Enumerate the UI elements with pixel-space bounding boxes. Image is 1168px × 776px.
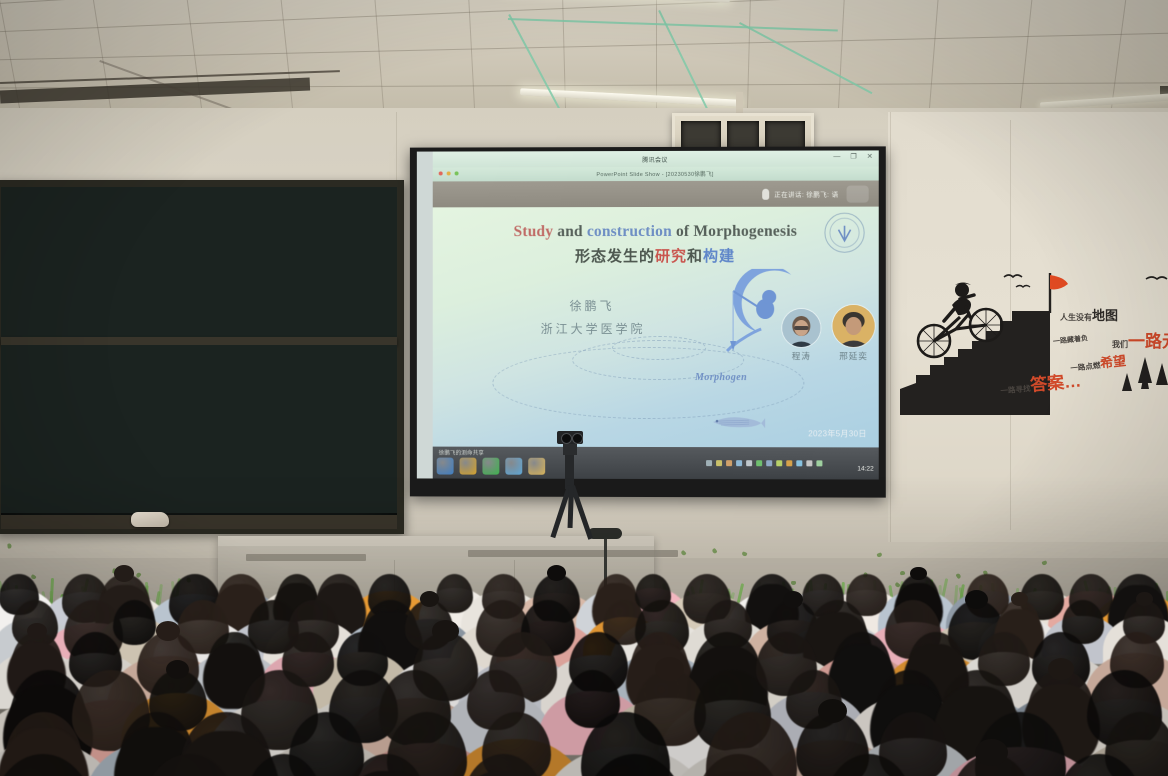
window-title-text: 腾讯会议	[642, 154, 668, 163]
coauthor-caption-2: 邢延奕	[831, 350, 875, 362]
ceiling-tile-line	[922, 0, 943, 118]
slide-title-cn: 形态发生的研究和构建	[433, 245, 879, 266]
butterfly-icon	[900, 571, 906, 576]
camera-head	[563, 444, 577, 455]
slide-date: 2023年5月30日	[808, 428, 866, 439]
folder-icon[interactable]	[528, 458, 545, 475]
coauthor-caption-1: 程涛	[779, 350, 823, 362]
powerpoint-title-bar: PowerPoint Slide Show - [20230530徐鹏飞]	[433, 166, 879, 181]
audience-hair-bun	[432, 620, 458, 642]
butterfly-icon	[741, 551, 747, 557]
zebrafish-illustration	[709, 415, 765, 429]
meeting-toolbar: 正在讲话: 徐鹏飞: 语	[433, 181, 879, 208]
gallery-icon[interactable]	[505, 458, 522, 475]
slide-title-segment: Study	[514, 223, 554, 240]
camera-lens-icon	[561, 433, 572, 444]
butterfly-icon	[791, 581, 796, 585]
slide-title-segment: construction	[587, 223, 672, 240]
audience-hair-bun	[547, 565, 566, 581]
tray-icon[interactable]	[816, 460, 822, 466]
maximize-icon[interactable]: ❐	[850, 153, 856, 160]
chalk-eraser	[131, 512, 169, 527]
tray-icon[interactable]	[776, 460, 782, 466]
coauthor-avatar-1	[782, 309, 820, 347]
microphone-icon	[762, 188, 769, 199]
tray-icon[interactable]	[766, 460, 772, 466]
slide-title-en: Study and construction of Morphogenesis	[433, 223, 879, 242]
tripod-column	[565, 455, 574, 489]
tray-icon[interactable]	[716, 460, 722, 466]
tray-icon[interactable]	[736, 460, 742, 466]
meeting-logo-icon	[847, 185, 869, 202]
audience-hair-bun	[166, 660, 189, 679]
media-icon[interactable]	[460, 458, 477, 475]
desktop-taskbar: 徐鹏飞的测命共享 14:22 2023/5/30	[433, 447, 879, 480]
tray-icon[interactable]	[806, 460, 812, 466]
taskbar-caption: 徐鹏飞的测命共享	[439, 449, 484, 457]
wall-text-line-1: 人生没有地图	[1060, 305, 1118, 324]
wall-text-line-2: 我们一路元	[1112, 327, 1168, 352]
lecture-hall-photo: 腾讯会议 — ❐ ✕ PowerPoint Slide Show - [2023…	[0, 0, 1168, 776]
slide-title-segment: of Morphogenesis	[672, 223, 797, 240]
audience-hair-bun	[910, 567, 927, 581]
slide-speaker-org: 浙江大学医学院	[478, 320, 708, 337]
audience-hair-bun	[783, 591, 804, 608]
morphogen-label: Morphogen	[695, 372, 747, 383]
wall-decal-art: 人生没有地图 我们一路元 一路藏着负 一路点燃希望 一路寻找答案…	[900, 265, 1168, 415]
coauthor-avatar-2	[832, 305, 874, 347]
audience: VIISHOW	[0, 540, 1168, 776]
camera-lens-icon	[572, 433, 583, 444]
audience-hair-bun	[1136, 592, 1153, 606]
butterfly-icon	[8, 543, 13, 548]
tray-icon[interactable]	[796, 460, 802, 466]
ceiling-tile-line	[84, 0, 126, 118]
system-tray[interactable]	[706, 460, 822, 466]
ceiling-tile-line	[1010, 0, 1038, 118]
wechat-icon[interactable]	[482, 458, 499, 475]
tray-icon[interactable]	[706, 460, 712, 466]
ceiling-tile-line	[0, 0, 1168, 11]
speaking-label: 正在讲话: 徐鹏飞: 语	[774, 189, 838, 199]
taskbar-launcher-icons[interactable]	[437, 458, 545, 475]
ceiling-tile-line	[561, 0, 569, 118]
audience-hair-bun	[818, 699, 847, 723]
taskbar-clock[interactable]: 14:22 2023/5/30	[851, 456, 873, 479]
tray-icon[interactable]	[726, 460, 732, 466]
slide-title-cn-segment: 形态发生的	[575, 248, 655, 265]
tray-icon[interactable]	[756, 460, 762, 466]
audience-hair-bun	[655, 657, 684, 681]
browser-icon[interactable]	[437, 458, 454, 475]
projection-screen: 腾讯会议 — ❐ ✕ PowerPoint Slide Show - [2023…	[410, 146, 886, 497]
butterfly-icon	[711, 548, 717, 554]
ceiling-tile-line	[465, 0, 480, 118]
ceiling-tile-line	[745, 0, 753, 118]
butterfly-icon	[955, 573, 961, 579]
slide-title-segment: and	[553, 223, 587, 240]
taskbar-time: 14:22	[857, 465, 873, 472]
traffic-light-buttons[interactable]	[439, 171, 459, 175]
presentation-slide: Study and construction of Morphogenesis …	[433, 207, 879, 448]
slide-title-cn-segment: 构建	[703, 248, 735, 265]
close-icon[interactable]: ✕	[867, 153, 873, 160]
butterfly-icon	[680, 550, 686, 556]
ceiling-tile-line	[274, 0, 302, 118]
ceiling-tile-line	[833, 0, 848, 118]
blackboard	[0, 180, 404, 534]
powerpoint-title-text: PowerPoint Slide Show - [20230530徐鹏飞]	[596, 170, 713, 178]
minimize-icon[interactable]: —	[833, 154, 840, 161]
tray-icon[interactable]	[786, 460, 792, 466]
window-controls[interactable]: — ❐ ✕	[833, 153, 872, 160]
slide-title-cn-segment: 和	[687, 248, 703, 265]
audience-hair-bun	[420, 591, 439, 607]
ceiling-tile-line	[0, 30, 1168, 63]
ceiling-tile-line	[370, 0, 391, 118]
speaking-indicator: 正在讲话: 徐鹏飞: 语	[762, 188, 838, 199]
audience-hair-bun	[114, 565, 134, 582]
butterfly-icon	[1042, 561, 1048, 567]
slide-title-cn-segment: 研究	[655, 248, 687, 265]
slide-speaker-name: 徐鹏飞	[492, 297, 692, 314]
butterfly-icon	[877, 552, 883, 558]
ceiling-tile-line	[0, 0, 1168, 37]
ceiling	[0, 0, 1168, 118]
window-title-bar: 腾讯会议 — ❐ ✕	[433, 150, 879, 167]
tray-icon[interactable]	[746, 460, 752, 466]
audience-hair-bun	[1048, 658, 1074, 680]
audience-hair-bun	[965, 590, 988, 609]
